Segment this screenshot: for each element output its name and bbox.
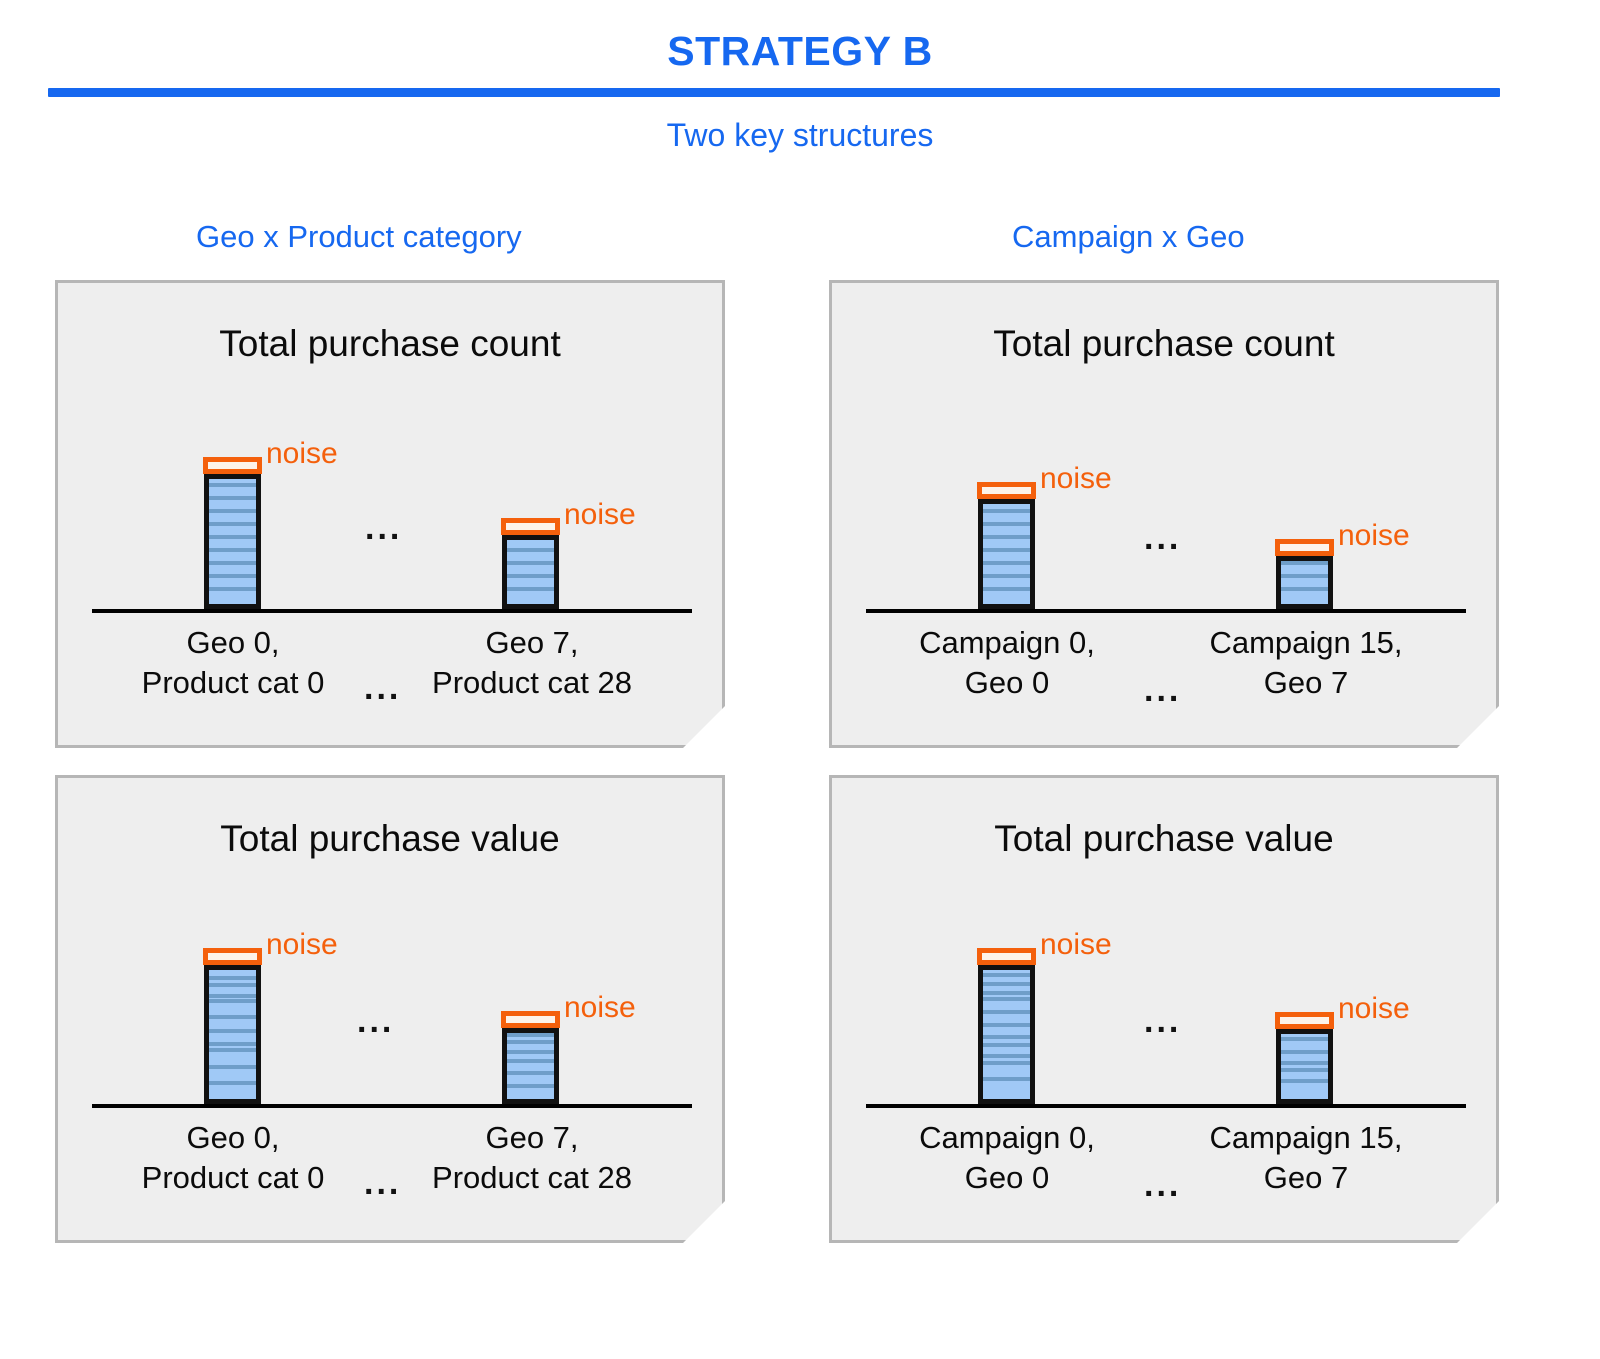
x-axis-line xyxy=(866,1104,1466,1108)
noise-label: noise xyxy=(1040,928,1112,962)
plot-area: ... noise noise xyxy=(866,898,1466,1108)
tick-label-line2: Product cat 28 xyxy=(402,663,662,703)
noise-cap xyxy=(1275,1012,1334,1029)
plot-ellipsis: ... xyxy=(365,511,402,545)
noise-cap xyxy=(977,948,1036,965)
column-heading-geo-product: Geo x Product category xyxy=(196,219,522,255)
tick-label: Campaign 15, Geo 7 xyxy=(1176,623,1436,702)
bar xyxy=(978,965,1035,1104)
panel-title: Total purchase value xyxy=(58,818,722,860)
bar-group: noise xyxy=(502,535,559,609)
noise-label: noise xyxy=(266,928,338,962)
tick-label-line2: Product cat 28 xyxy=(402,1158,662,1198)
tick-ellipsis: ... xyxy=(364,671,401,705)
x-tick-labels: Geo 0, Product cat 0 Geo 7, Product cat … xyxy=(92,623,692,713)
tick-label-line1: Geo 0, xyxy=(103,1118,363,1158)
panel-purchase-value-geo-product: Total purchase value ... noise noise xyxy=(55,775,725,1243)
bar-group: noise xyxy=(502,1028,559,1104)
noise-cap xyxy=(501,518,560,535)
x-tick-labels: Campaign 0, Geo 0 Campaign 15, Geo 7 ... xyxy=(866,623,1466,713)
panel-purchase-count-campaign-geo: Total purchase count ... noise noise Cam xyxy=(829,280,1499,748)
tick-ellipsis: ... xyxy=(1144,1168,1181,1202)
noise-cap xyxy=(977,482,1036,499)
x-tick-labels: Campaign 0, Geo 0 Campaign 15, Geo 7 ... xyxy=(866,1118,1466,1208)
x-tick-labels: Geo 0, Product cat 0 Geo 7, Product cat … xyxy=(92,1118,692,1208)
tick-label-line1: Geo 0, xyxy=(103,623,363,663)
tick-label-line1: Campaign 15, xyxy=(1176,623,1436,663)
bar xyxy=(978,499,1035,609)
title-divider xyxy=(48,88,1500,97)
tick-label: Geo 0, Product cat 0 xyxy=(103,1118,363,1197)
tick-ellipsis: ... xyxy=(364,1166,401,1200)
noise-cap xyxy=(1275,539,1334,556)
tick-label: Geo 7, Product cat 28 xyxy=(402,1118,662,1197)
tick-label-line1: Geo 7, xyxy=(402,623,662,663)
noise-cap xyxy=(501,1011,560,1028)
bar xyxy=(204,965,261,1104)
page-subtitle: Two key structures xyxy=(0,117,1600,154)
bar xyxy=(1276,556,1333,609)
panel-title: Total purchase value xyxy=(832,818,1496,860)
noise-label: noise xyxy=(1338,519,1410,553)
bar xyxy=(204,474,261,609)
bar-group: noise xyxy=(204,965,261,1104)
tick-ellipsis: ... xyxy=(1144,673,1181,707)
plot-ellipsis: ... xyxy=(1144,1004,1181,1038)
tick-label-line1: Campaign 0, xyxy=(877,1118,1137,1158)
x-axis-line xyxy=(866,609,1466,613)
bar-group: noise xyxy=(978,965,1035,1104)
panel-title: Total purchase count xyxy=(832,323,1496,365)
tick-label-line1: Campaign 0, xyxy=(877,623,1137,663)
bar xyxy=(1276,1029,1333,1104)
tick-label-line2: Geo 7 xyxy=(1176,1158,1436,1198)
plot-ellipsis: ... xyxy=(357,1004,394,1038)
tick-label-line2: Geo 7 xyxy=(1176,663,1436,703)
panel-purchase-count-geo-product: Total purchase count ... noise noise xyxy=(55,280,725,748)
tick-label: Campaign 15, Geo 7 xyxy=(1176,1118,1436,1197)
tick-label-line2: Product cat 0 xyxy=(103,663,363,703)
x-axis-line xyxy=(92,609,692,613)
noise-cap xyxy=(203,948,262,965)
noise-cap xyxy=(203,457,262,474)
column-heading-campaign-geo: Campaign x Geo xyxy=(1012,219,1245,255)
plot-ellipsis: ... xyxy=(1144,521,1181,555)
noise-label: noise xyxy=(564,498,636,532)
tick-label: Campaign 0, Geo 0 xyxy=(877,623,1137,702)
plot-area: ... noise noise xyxy=(92,898,692,1108)
tick-label-line2: Geo 0 xyxy=(877,663,1137,703)
panel-purchase-value-campaign-geo: Total purchase value ... noise noise xyxy=(829,775,1499,1243)
tick-label: Campaign 0, Geo 0 xyxy=(877,1118,1137,1197)
page-title: STRATEGY B xyxy=(0,28,1600,75)
noise-label: noise xyxy=(266,437,338,471)
noise-label: noise xyxy=(1040,462,1112,496)
noise-label: noise xyxy=(564,991,636,1025)
plot-area: ... noise noise xyxy=(866,403,1466,613)
tick-label: Geo 7, Product cat 28 xyxy=(402,623,662,702)
x-axis-line xyxy=(92,1104,692,1108)
panel-title: Total purchase count xyxy=(58,323,722,365)
bar xyxy=(502,1028,559,1104)
tick-label-line1: Geo 7, xyxy=(402,1118,662,1158)
bar-group: noise xyxy=(978,499,1035,609)
tick-label: Geo 0, Product cat 0 xyxy=(103,623,363,702)
bar-group: noise xyxy=(204,474,261,609)
tick-label-line2: Product cat 0 xyxy=(103,1158,363,1198)
bar-group: noise xyxy=(1276,556,1333,609)
plot-area: ... noise noise xyxy=(92,403,692,613)
bar xyxy=(502,535,559,609)
tick-label-line1: Campaign 15, xyxy=(1176,1118,1436,1158)
noise-label: noise xyxy=(1338,992,1410,1026)
bar-group: noise xyxy=(1276,1029,1333,1104)
tick-label-line2: Geo 0 xyxy=(877,1158,1137,1198)
